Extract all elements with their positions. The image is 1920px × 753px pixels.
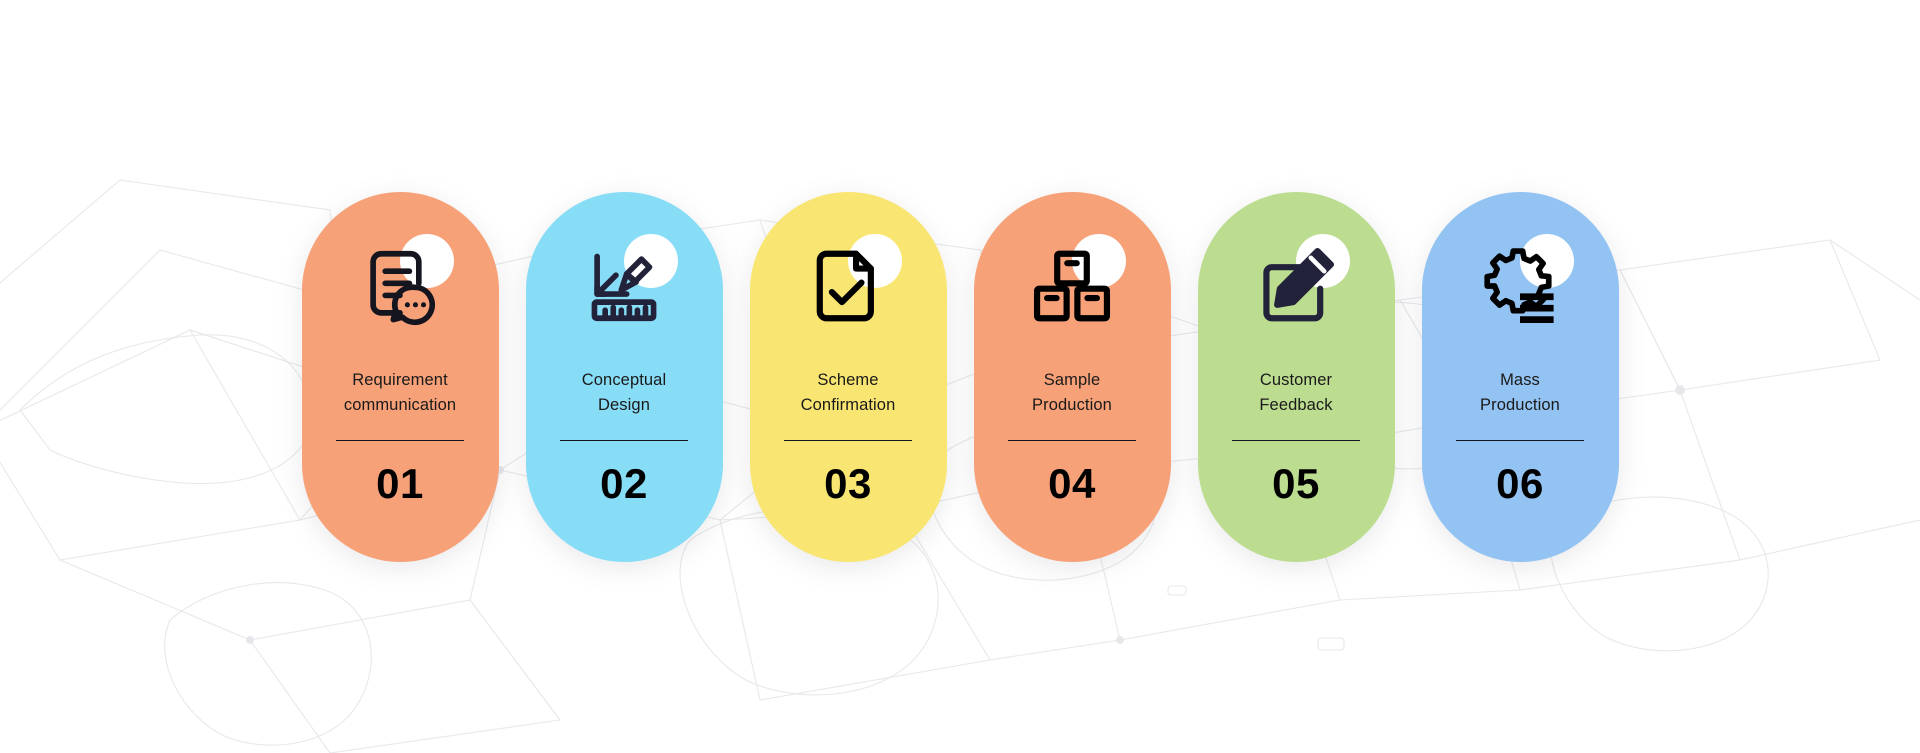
step-card-5[interactable]: Customer Feedback 05 bbox=[1198, 192, 1395, 562]
step-icon-area-2 bbox=[564, 226, 684, 346]
step-title-4: Sample Production bbox=[982, 368, 1162, 418]
gear-bars-icon bbox=[1477, 243, 1563, 329]
step-card-1[interactable]: Requirement communication 01 bbox=[302, 192, 499, 562]
edit-square-pencil-icon bbox=[1253, 243, 1339, 329]
step-divider-5 bbox=[1232, 440, 1360, 442]
step-divider-6 bbox=[1456, 440, 1584, 442]
step-divider-2 bbox=[560, 440, 688, 442]
step-number-4: 04 bbox=[1048, 463, 1096, 505]
document-chat-icon bbox=[357, 243, 443, 329]
step-title-1: Requirement communication bbox=[310, 368, 490, 418]
step-icon-area-5 bbox=[1236, 226, 1356, 346]
step-icon-area-1 bbox=[340, 226, 460, 346]
step-number-3: 03 bbox=[824, 463, 872, 505]
step-title-3: Scheme Confirmation bbox=[758, 368, 938, 418]
step-icon-area-3 bbox=[788, 226, 908, 346]
step-number-1: 01 bbox=[376, 463, 424, 505]
ruler-pencil-icon bbox=[581, 243, 667, 329]
step-number-2: 02 bbox=[600, 463, 648, 505]
step-title-2: Conceptual Design bbox=[534, 368, 714, 418]
step-card-4[interactable]: Sample Production 04 bbox=[974, 192, 1171, 562]
process-steps-container: Requirement communication 01 Conceptual … bbox=[0, 0, 1920, 753]
document-check-icon bbox=[805, 243, 891, 329]
step-number-5: 05 bbox=[1272, 463, 1320, 505]
step-icon-area-4 bbox=[1012, 226, 1132, 346]
step-divider-4 bbox=[1008, 440, 1136, 442]
step-number-6: 06 bbox=[1496, 463, 1544, 505]
step-divider-3 bbox=[784, 440, 912, 442]
step-title-6: Mass Production bbox=[1430, 368, 1610, 418]
stacked-boxes-icon bbox=[1029, 243, 1115, 329]
step-card-6[interactable]: Mass Production 06 bbox=[1422, 192, 1619, 562]
step-card-2[interactable]: Conceptual Design 02 bbox=[526, 192, 723, 562]
step-title-5: Customer Feedback bbox=[1206, 368, 1386, 418]
step-icon-area-6 bbox=[1460, 226, 1580, 346]
step-card-3[interactable]: Scheme Confirmation 03 bbox=[750, 192, 947, 562]
step-divider-1 bbox=[336, 440, 464, 442]
